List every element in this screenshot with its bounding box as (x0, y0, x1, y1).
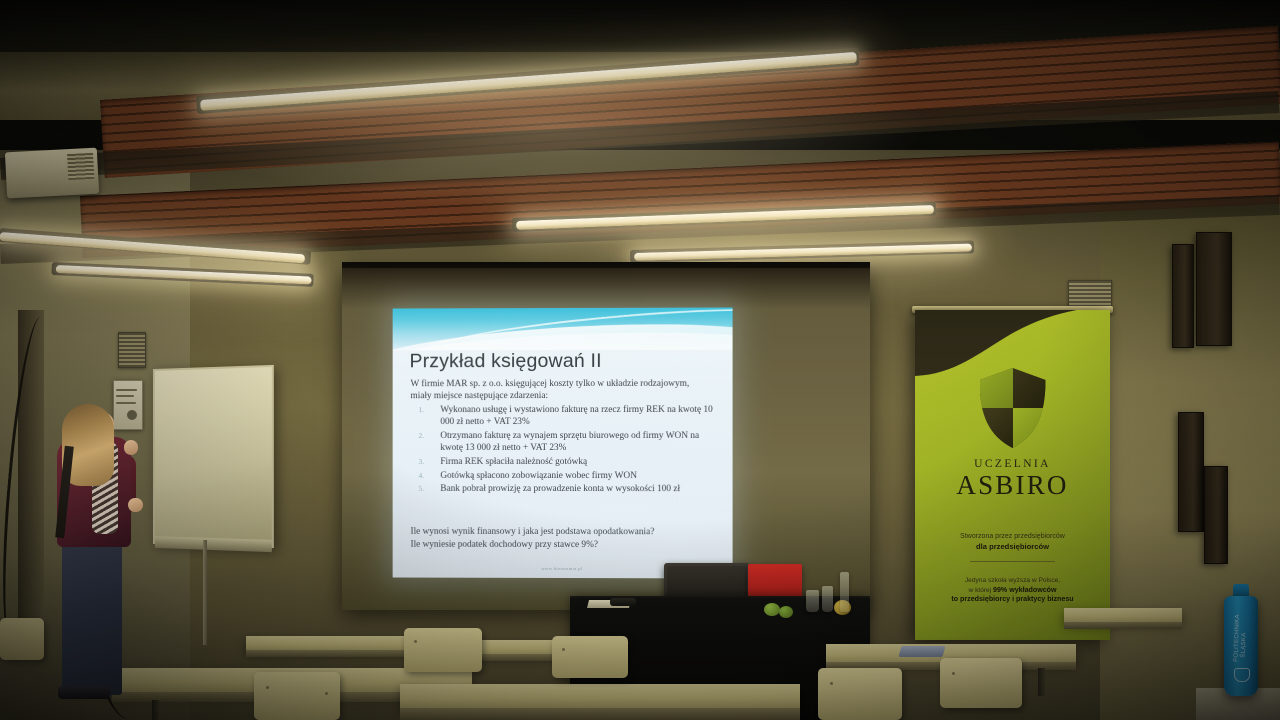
presenter-shoes (58, 686, 110, 699)
list-item-number: 4. (418, 469, 424, 481)
list-item-text: Wykonano usługę i wystawiono fakturę na … (440, 405, 712, 427)
wall-picture-frame-4 (1204, 466, 1228, 564)
chair-back-6 (0, 618, 44, 660)
chair-screw (325, 692, 328, 695)
stemmed-glass (840, 572, 849, 612)
asbiro-rollup-banner: UCZELNIA ASBIRO Stworzona przez przedsię… (915, 310, 1110, 640)
slide-numbered-list: 1. Wykonano usługę i wystawiono fakturę … (411, 404, 719, 497)
poster-line-2 (116, 395, 133, 397)
presenter-legs (62, 540, 122, 695)
wall-picture-frame-2 (1172, 244, 1194, 348)
list-item: 4. Gotówką spłacono zobowiązanie wobec f… (411, 469, 719, 481)
list-item-number: 1. (418, 404, 424, 416)
chair-back-5 (940, 658, 1022, 708)
banner-uczelnia-label: UCZELNIA (915, 458, 1110, 470)
banner-tagline-bottom-line3: to przedsiębiorcy i praktycy biznesu (951, 595, 1073, 603)
drinking-glass-1 (806, 590, 819, 612)
list-item: 2. Otrzymano fakturę za wynajem sprzętu … (411, 430, 719, 454)
notebook-on-right-desk (898, 646, 945, 657)
green-fruit-2 (779, 606, 793, 618)
list-item: 3. Firma REK spłaciła należność gotówką (411, 456, 719, 468)
list-item-text: Bank pobrał prowizję za prowadzenie kont… (440, 484, 680, 494)
slide-question-1: Ile wynosi wynik finansowy i jaka jest p… (411, 526, 713, 540)
banner-asbiro-label: ASBIRO (915, 470, 1110, 501)
green-fruit-1 (764, 603, 780, 616)
poster-glyph (127, 410, 137, 420)
list-item: 5. Bank pobrał prowizję za prowadzenie k… (411, 483, 719, 496)
drinking-glass-2 (822, 586, 833, 612)
list-item-number: 5. (418, 483, 424, 495)
bottle-logo-icon (1234, 668, 1250, 682)
chair-back-2 (404, 628, 482, 672)
chair-back-4 (818, 668, 902, 720)
wall-picture-frame-3 (1178, 412, 1204, 532)
banner-tagline-bottom: Jedyna szkoła wyższa w Polsce, w której … (915, 576, 1110, 605)
wall-ventilation-grille (118, 332, 146, 368)
poster-line-1 (116, 389, 137, 391)
bottle-label-text: POLITECHNIKA ŚLĄSKA (1233, 628, 1248, 662)
desk-front-center (400, 684, 800, 710)
list-item-number: 2. (418, 430, 424, 442)
desk-right-leg (1038, 668, 1045, 696)
chair-screw (830, 682, 833, 685)
list-item-text: Firma REK spłaciła należność gotówką (440, 457, 587, 467)
wall-notice-poster (113, 380, 143, 430)
chair-back-1 (254, 672, 340, 720)
slide-questions: Ile wynosi wynik finansowy i jaka jest p… (411, 526, 713, 553)
desk-front-left-leg (152, 700, 159, 720)
list-item: 1. Wykonano usługę i wystawiono fakturę … (411, 404, 719, 429)
dark-object-on-table (610, 598, 636, 606)
banner-tagline-top-line2: dla przedsiębiorców (915, 542, 1110, 552)
chair-screw (266, 686, 269, 689)
desk-front-center-edge (400, 708, 800, 720)
back-wall-vent (1068, 280, 1112, 308)
presentation-slide: Przykład księgowań II W firmie MAR sp. z… (393, 308, 733, 579)
poster-line-3 (116, 402, 136, 404)
banner-tagline-bottom-line2a: w której (968, 587, 993, 594)
projector-vent-icon (67, 153, 94, 180)
banner-tagline-top: Stworzona przez przedsiębiorców dla prze… (915, 532, 1110, 552)
banner-tagline-bottom-line1: Jedyna szkoła wyższa w Polsce, (965, 577, 1060, 584)
ceiling-projector (5, 148, 99, 199)
chair-screw (414, 640, 417, 643)
flipchart-easel (153, 365, 274, 548)
presenter-hand-lower (128, 498, 143, 512)
list-item-text: Gotówką spłacono zobowiązanie wobec firm… (440, 470, 637, 480)
chair-screw (952, 672, 955, 675)
list-item-text: Otrzymano fakturę za wynajem sprzętu biu… (440, 431, 699, 453)
list-item-number: 3. (418, 456, 424, 468)
presenter-hand-raised (124, 440, 138, 455)
sports-water-bottle: POLITECHNIKA ŚLĄSKA (1224, 596, 1258, 696)
slide-question-2: Ile wyniesie podatek dochodowy przy staw… (411, 539, 713, 553)
flipchart-leg (203, 540, 207, 645)
banner-divider (970, 561, 1056, 562)
banner-tagline-bottom-line2b: 99% wykładowców (993, 586, 1056, 594)
chair-screw (562, 648, 565, 651)
slide-title: Przykład księgowań II (410, 350, 710, 374)
desk-far-right-edge (1064, 622, 1182, 629)
slide-intro-text: W firmie MAR sp. z o.o. księgującej kosz… (411, 378, 713, 403)
chair-back-3 (552, 636, 628, 678)
lecture-room-photo: Przykład księgowań II W firmie MAR sp. z… (0, 0, 1280, 720)
banner-tagline-top-line1: Stworzona przez przedsiębiorców (960, 533, 1065, 540)
wall-picture-frame-1 (1196, 232, 1232, 346)
slide-header-graphic (393, 308, 733, 351)
